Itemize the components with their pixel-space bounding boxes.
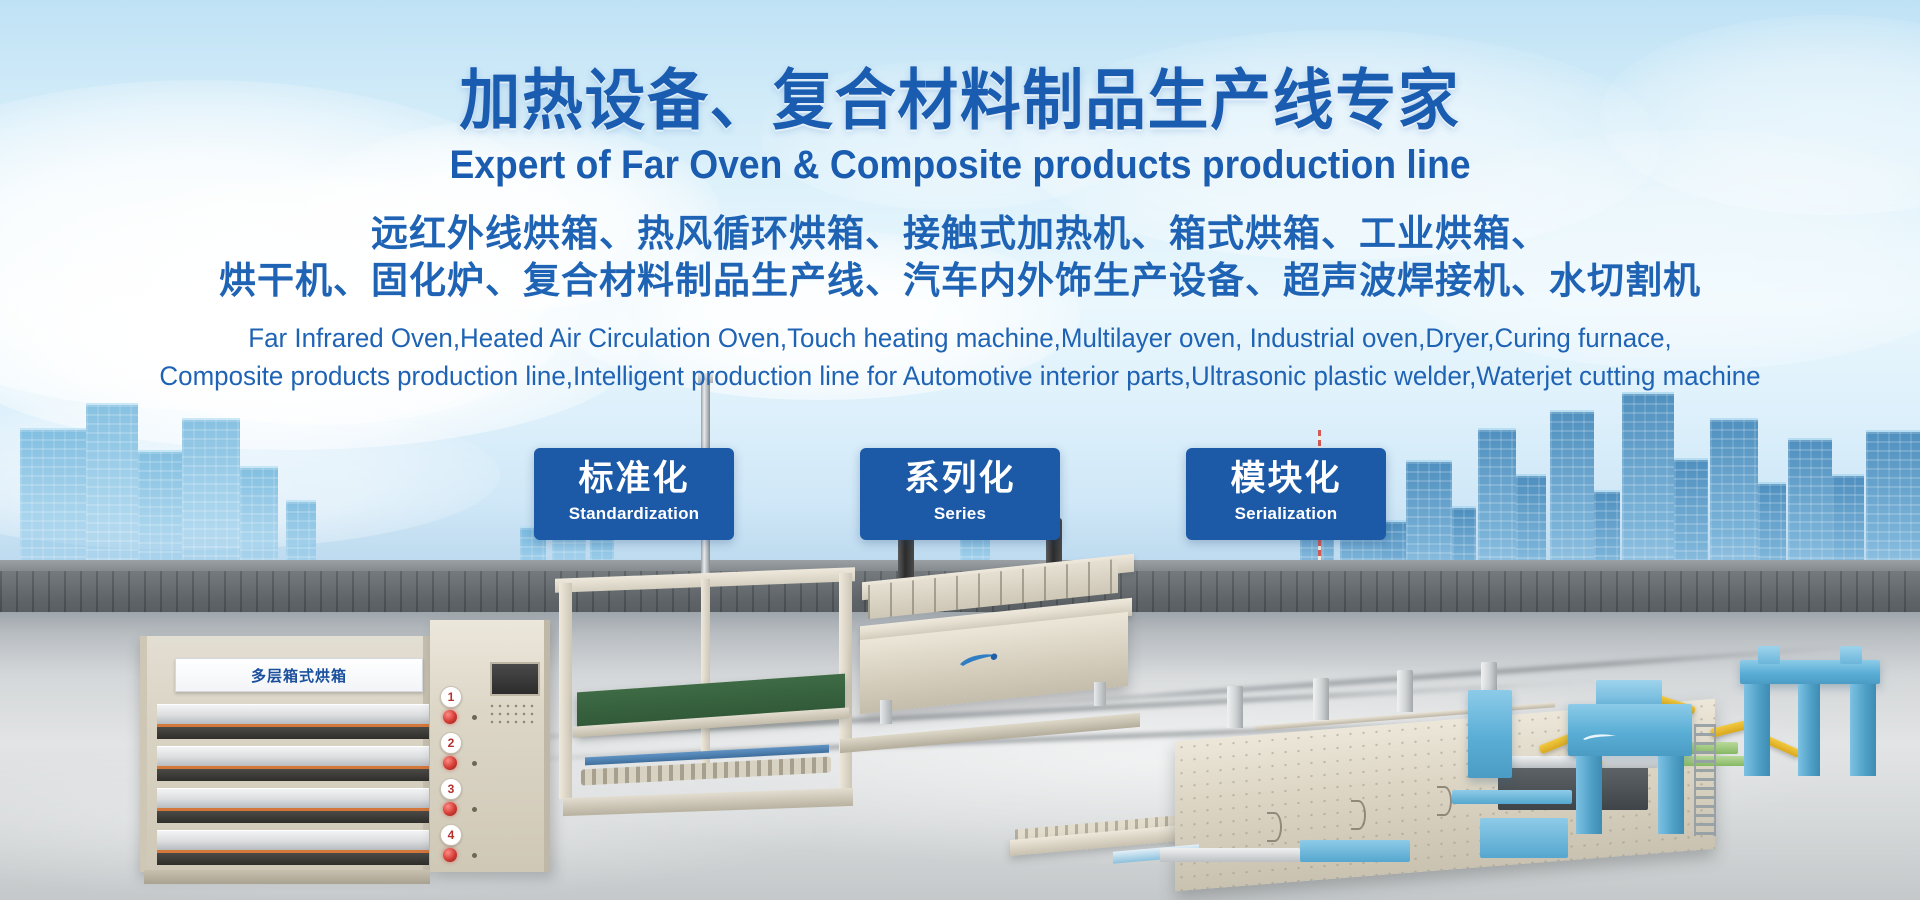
exhaust-stack bbox=[1313, 678, 1329, 720]
panel-dot bbox=[472, 807, 477, 812]
press-crown bbox=[1758, 646, 1780, 664]
oven-base bbox=[144, 870, 430, 884]
oven-control-panel[interactable]: 1 2 3 4 bbox=[430, 620, 550, 872]
banner-text-block: 加热设备、复合材料制品生产线专家 Expert of Far Oven & Co… bbox=[0, 0, 1920, 395]
conveyor-blue-block bbox=[1300, 840, 1410, 862]
conveyor-blue-block bbox=[1480, 818, 1568, 858]
indicator-lamp-3[interactable] bbox=[443, 802, 457, 816]
badge-label-en: Standardization bbox=[569, 499, 700, 524]
press-leg bbox=[1850, 684, 1876, 776]
press-leg bbox=[1576, 756, 1602, 834]
press-leg bbox=[1744, 684, 1770, 776]
badge-label-cn: 标准化 bbox=[578, 460, 689, 499]
oven-shelf bbox=[157, 788, 429, 811]
panel-dot bbox=[472, 761, 477, 766]
oven-body: 多层箱式烘箱 bbox=[140, 636, 430, 872]
feature-badge-group: 标准化 Standardization 系列化 Series 模块化 Seria… bbox=[0, 448, 1920, 540]
brand-logo-icon bbox=[1582, 728, 1622, 736]
press-piston bbox=[1094, 682, 1106, 706]
product-list-cn-line-1: 远红外线烘箱、热风循环烘箱、接触式加热机、箱式烘箱、工业烘箱、 bbox=[140, 210, 1780, 257]
blue-tower-unit bbox=[1468, 690, 1512, 778]
oven-shelf-gap bbox=[157, 853, 429, 865]
tunnel-door-handle[interactable] bbox=[1437, 786, 1452, 816]
vent-grid-icon bbox=[488, 702, 538, 724]
badge-series[interactable]: 系列化 Series bbox=[860, 448, 1060, 540]
exhaust-stack bbox=[1227, 686, 1243, 728]
product-list-cn-line-2: 烘干机、固化炉、复合材料制品生产线、汽车内外饰生产设备、超声波焊接机、水切割机 bbox=[140, 257, 1780, 304]
machine-blue-press-left bbox=[1568, 690, 1698, 840]
product-list-cn: 远红外线烘箱、热风循环烘箱、接触式加热机、箱式烘箱、工业烘箱、 烘干机、固化炉、… bbox=[140, 186, 1780, 305]
tunnel-door-handle[interactable] bbox=[1267, 812, 1282, 842]
conveyor-blue-segment bbox=[1452, 790, 1572, 804]
indicator-lamp-1[interactable] bbox=[443, 710, 457, 724]
press-leg bbox=[1658, 756, 1684, 834]
product-list-en-line-2: Composite products production line,Intel… bbox=[77, 357, 1843, 395]
product-list-en: Far Infrared Oven,Heated Air Circulation… bbox=[77, 305, 1843, 396]
indicator-lamp-4[interactable] bbox=[443, 848, 457, 862]
badge-standardization[interactable]: 标准化 Standardization bbox=[534, 448, 734, 540]
machine-multilayer-oven: 多层箱式烘箱 1 2 3 bbox=[140, 620, 570, 880]
banner-title-en: Expert of Far Oven & Composite products … bbox=[67, 134, 1853, 186]
frame-base bbox=[563, 788, 853, 816]
oven-shelf-gap bbox=[157, 727, 429, 739]
frame-post bbox=[559, 583, 572, 799]
hero-banner: 多层箱式烘箱 1 2 3 bbox=[0, 0, 1920, 900]
badge-label-cn: 系列化 bbox=[904, 460, 1015, 499]
oven-shelf bbox=[157, 746, 429, 769]
indicator-number-2: 2 bbox=[440, 732, 462, 754]
frame-post bbox=[701, 579, 710, 779]
indicator-number-4: 4 bbox=[440, 824, 462, 846]
oven-shelf bbox=[157, 704, 429, 727]
indicator-lamp-2[interactable] bbox=[443, 756, 457, 770]
press-piston bbox=[880, 700, 892, 724]
panel-dot bbox=[472, 853, 477, 858]
conveyor-silver-block bbox=[1160, 848, 1300, 862]
exhaust-stack bbox=[1397, 670, 1413, 712]
press-crown bbox=[1596, 680, 1662, 706]
badge-serialization[interactable]: 模块化 Serialization bbox=[1186, 448, 1386, 540]
machine-blue-press-right bbox=[1740, 660, 1890, 820]
press-leg bbox=[1798, 684, 1820, 776]
panel-dot bbox=[472, 715, 477, 720]
badge-label-en: Serialization bbox=[1235, 499, 1338, 524]
badge-label-cn: 模块化 bbox=[1230, 460, 1341, 499]
control-display-screen[interactable] bbox=[490, 662, 540, 696]
oven-shelf bbox=[157, 830, 429, 853]
indicator-number-1: 1 bbox=[440, 686, 462, 708]
indicator-number-3: 3 bbox=[440, 778, 462, 800]
product-list-en-line-1: Far Infrared Oven,Heated Air Circulation… bbox=[77, 319, 1843, 357]
oven-name-plate-label: 多层箱式烘箱 bbox=[251, 665, 347, 686]
oven-shelf-gap bbox=[157, 811, 429, 823]
tunnel-door-handle[interactable] bbox=[1351, 800, 1366, 830]
access-ladder bbox=[1694, 724, 1716, 836]
banner-title-cn: 加热设备、复合材料制品生产线专家 bbox=[77, 0, 1843, 134]
oven-shelf-gap bbox=[157, 769, 429, 781]
press-crown bbox=[1840, 646, 1862, 664]
oven-name-plate: 多层箱式烘箱 bbox=[175, 658, 423, 692]
badge-label-en: Series bbox=[934, 499, 986, 524]
machine-hot-press bbox=[850, 530, 1180, 790]
